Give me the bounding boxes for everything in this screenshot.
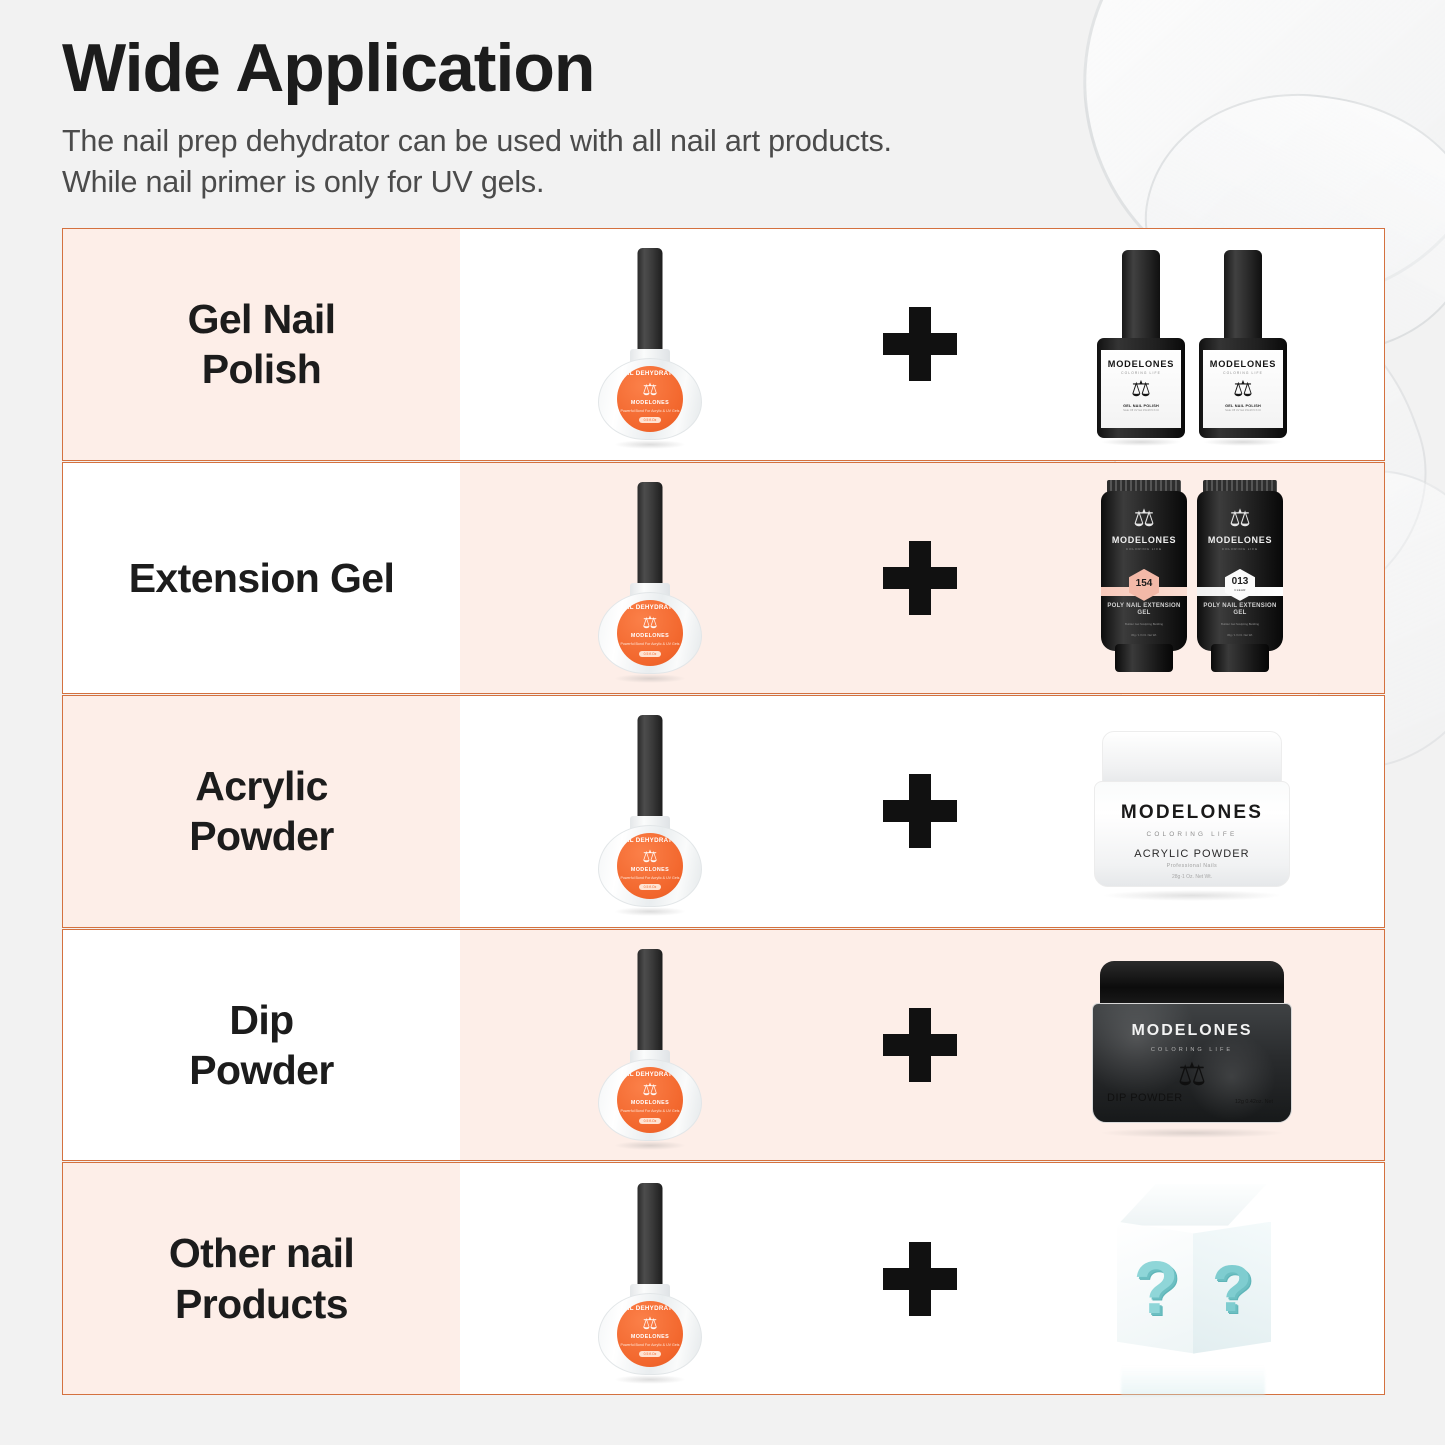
bottle-cap: [638, 715, 663, 823]
product-slot: MODELONES COLORING LIFE ⚖ DIP POWDER 12g…: [1000, 930, 1384, 1161]
page-title: Wide Application: [62, 33, 1222, 104]
product-slot: ? ?: [1000, 1163, 1384, 1394]
extension-gel-tube: ⚖ MODELONES COLORING LIFE 013 CLEAR POLY…: [1197, 480, 1283, 676]
plus-icon: [883, 541, 957, 615]
tube-cap: [1115, 644, 1173, 672]
table-row: Acrylic Powder NAIL DEHYDRATOR ⚖ MODELON…: [62, 695, 1385, 928]
dehydrator-label-text: NAIL DEHYDRATOR: [617, 1305, 683, 1312]
bee-icon: ⚖: [1233, 378, 1253, 400]
bottle-label: NAIL DEHYDRATOR ⚖ MODELONES Powerful Bon…: [617, 833, 683, 899]
dehydrator-label-text: NAIL DEHYDRATOR: [617, 837, 683, 844]
bottle-shadow: [614, 1141, 686, 1150]
table-row: Gel Nail Polish NAIL DEHYDRATOR ⚖ MODELO…: [62, 228, 1385, 461]
product-slot: ⚖ MODELONES COLORING LIFE 154 POLY NAIL …: [1000, 463, 1384, 694]
bottle-cap: [638, 482, 663, 590]
bottle-shadow: [614, 1375, 686, 1384]
bottle-label: NAIL DEHYDRATOR ⚖ MODELONES Powerful Bon…: [617, 600, 683, 666]
brand-text: MODELONES: [1131, 1022, 1252, 1040]
tube-description: POLY NAIL EXTENSION GEL Builder Gel Scul…: [1197, 603, 1283, 637]
row-label-cell: Gel Nail Polish: [63, 229, 460, 460]
brand-text: MODELONES: [631, 1100, 669, 1106]
plus-slot: [840, 307, 1000, 381]
question-mark-cube: ? ?: [1097, 1184, 1287, 1374]
bottle-shadow: [1203, 438, 1283, 446]
bottle-body: NAIL DEHYDRATOR ⚖ MODELONES Powerful Bon…: [598, 1293, 702, 1375]
bee-icon: ⚖: [642, 1081, 657, 1098]
product-desc: Builder Gel Sculpting Building: [1101, 622, 1187, 627]
nail-dehydrator-bottle: NAIL DEHYDRATOR ⚖ MODELONES Powerful Bon…: [598, 715, 702, 907]
row-label-cell: Extension Gel: [63, 463, 460, 694]
row-label-cell: Dip Powder: [63, 930, 460, 1161]
shade-badge: 013 CLEAR: [1225, 569, 1255, 601]
bottle-desc: Powerful Bond For Acrylic & UV Gels: [621, 1343, 680, 1348]
dehydrator-slot: NAIL DEHYDRATOR ⚖ MODELONES Powerful Bon…: [460, 1163, 840, 1394]
product-name: DIP POWDER: [1107, 1092, 1183, 1106]
product-net: Soak Off UV Gel 15ml/0.5 fl.Oz: [1225, 409, 1261, 412]
brand-tagline: COLORING LIFE: [1147, 831, 1238, 838]
bee-icon: ⚖: [1178, 1058, 1207, 1090]
bottle-body: NAIL DEHYDRATOR ⚖ MODELONES Powerful Bon…: [598, 825, 702, 907]
product-desc: Builder Gel Sculpting Building: [1197, 622, 1283, 627]
product-slot: MODELONES COLORING LIFE ⚖ GEL NAIL POLIS…: [1000, 229, 1384, 460]
plus-slot: [840, 774, 1000, 848]
table-row: Extension Gel NAIL DEHYDRATOR ⚖ MODELONE…: [62, 462, 1385, 695]
row-product-cell: NAIL DEHYDRATOR ⚖ MODELONES Powerful Bon…: [460, 696, 1384, 927]
bottle-shadow: [614, 440, 686, 449]
bottle-label: NAIL DEHYDRATOR ⚖ MODELONES Powerful Bon…: [617, 366, 683, 432]
tube-body: ⚖ MODELONES COLORING LIFE 154 POLY NAIL …: [1101, 491, 1187, 651]
shade-badge: 154: [1129, 569, 1159, 601]
shade-number: 013: [1232, 577, 1249, 587]
infographic-page: Wide Application The nail prep dehydrato…: [0, 0, 1445, 1445]
product-net: 30g / 1 fl.Oz. Net Wt.: [1101, 633, 1187, 637]
application-table: Gel Nail Polish NAIL DEHYDRATOR ⚖ MODELO…: [62, 228, 1385, 1395]
plus-slot: [840, 541, 1000, 615]
jar-shadow: [1099, 1128, 1285, 1138]
tube-description: POLY NAIL EXTENSION GEL Builder Gel Scul…: [1101, 603, 1187, 637]
bottle-volume: 0.5 fl.Oz: [639, 884, 662, 890]
brand-text: MODELONES: [631, 867, 669, 873]
brand-text: MODELONES: [1108, 359, 1174, 369]
product-name: GEL NAIL POLISH: [1225, 404, 1261, 408]
bottle-desc: Powerful Bond For Acrylic & UV Gels: [621, 409, 680, 414]
bottle-body: MODELONES COLORING LIFE ⚖ GEL NAIL POLIS…: [1199, 338, 1287, 438]
dehydrator-slot: NAIL DEHYDRATOR ⚖ MODELONES Powerful Bon…: [460, 463, 840, 694]
product-name: ACRYLIC POWDER: [1134, 848, 1249, 860]
acrylic-powder-jar: MODELONES COLORING LIFE ACRYLIC POWDER P…: [1094, 731, 1290, 891]
bottle-desc: Powerful Bond For Acrylic & UV Gels: [621, 876, 680, 881]
brand-text: MODELONES: [1121, 802, 1263, 824]
product-name: GEL NAIL POLISH: [1123, 404, 1159, 408]
dehydrator-slot: NAIL DEHYDRATOR ⚖ MODELONES Powerful Bon…: [460, 930, 840, 1161]
brand-text: MODELONES: [1210, 359, 1276, 369]
bottle-body: NAIL DEHYDRATOR ⚖ MODELONES Powerful Bon…: [598, 592, 702, 674]
row-label: Other nail Products: [169, 1228, 354, 1329]
bottle-label: NAIL DEHYDRATOR ⚖ MODELONES Powerful Bon…: [617, 1301, 683, 1367]
bottle-cap: [638, 248, 663, 356]
row-product-cell: NAIL DEHYDRATOR ⚖ MODELONES Powerful Bon…: [460, 930, 1384, 1161]
brand-text: MODELONES: [631, 1334, 669, 1340]
brand-tagline: COLORING LIFE: [1121, 371, 1161, 375]
row-label-cell: Acrylic Powder: [63, 696, 460, 927]
gel-polish-bottle: MODELONES COLORING LIFE ⚖ GEL NAIL POLIS…: [1097, 250, 1185, 438]
bee-icon: ⚖: [1131, 378, 1151, 400]
product-name: POLY NAIL EXTENSION GEL: [1197, 603, 1283, 618]
bottle-label: NAIL DEHYDRATOR ⚖ MODELONES Powerful Bon…: [617, 1067, 683, 1133]
bottle-body: NAIL DEHYDRATOR ⚖ MODELONES Powerful Bon…: [598, 1059, 702, 1141]
cube-reflection: [1121, 1366, 1265, 1396]
row-label-cell: Other nail Products: [63, 1163, 460, 1394]
bee-icon: ⚖: [642, 381, 657, 398]
bottle-shadow: [614, 674, 686, 683]
dehydrator-slot: NAIL DEHYDRATOR ⚖ MODELONES Powerful Bon…: [460, 229, 840, 460]
bottle-cap: [1224, 250, 1262, 344]
row-label: Acrylic Powder: [189, 761, 334, 862]
cube-top-face: [1117, 1184, 1267, 1226]
plus-icon: [883, 1242, 957, 1316]
product-sub: Professional Nails: [1167, 863, 1218, 869]
bottle-shadow: [614, 907, 686, 916]
plus-icon: [883, 774, 957, 848]
cube-right-face: ?: [1193, 1222, 1271, 1354]
nail-dehydrator-bottle: NAIL DEHYDRATOR ⚖ MODELONES Powerful Bon…: [598, 248, 702, 440]
bottle-volume: 0.5 fl.Oz: [639, 651, 662, 657]
plus-slot: [840, 1008, 1000, 1082]
bottle-body: MODELONES COLORING LIFE ⚖ GEL NAIL POLIS…: [1097, 338, 1185, 438]
row-product-cell: NAIL DEHYDRATOR ⚖ MODELONES Powerful Bon…: [460, 463, 1384, 694]
product-name: POLY NAIL EXTENSION GEL: [1101, 603, 1187, 618]
bee-icon: ⚖: [642, 848, 657, 865]
table-row: Other nail Products NAIL DEHYDRATOR ⚖ MO…: [62, 1162, 1385, 1395]
dehydrator-label-text: NAIL DEHYDRATOR: [617, 1071, 683, 1078]
gel-polish-bottles: MODELONES COLORING LIFE ⚖ GEL NAIL POLIS…: [1097, 250, 1287, 438]
dehydrator-label-text: NAIL DEHYDRATOR: [617, 604, 683, 611]
bee-icon: ⚖: [642, 614, 657, 631]
row-label: Extension Gel: [129, 553, 395, 603]
nail-dehydrator-bottle: NAIL DEHYDRATOR ⚖ MODELONES Powerful Bon…: [598, 1183, 702, 1375]
gel-polish-bottle: MODELONES COLORING LIFE ⚖ GEL NAIL POLIS…: [1199, 250, 1287, 438]
bottle-cap: [1122, 250, 1160, 344]
row-product-cell: NAIL DEHYDRATOR ⚖ MODELONES Powerful Bon…: [460, 229, 1384, 460]
product-net: 28g·1 Oz. Net Wt.: [1172, 874, 1212, 880]
bee-icon: ⚖: [642, 1315, 657, 1332]
bottle-volume: 0.5 fl.Oz: [639, 1351, 662, 1357]
nail-dehydrator-bottle: NAIL DEHYDRATOR ⚖ MODELONES Powerful Bon…: [598, 949, 702, 1141]
table-row: Dip Powder NAIL DEHYDRATOR ⚖ MODELONES P…: [62, 929, 1385, 1162]
header: Wide Application The nail prep dehydrato…: [62, 33, 1222, 203]
question-mark-icon: ?: [1212, 1255, 1252, 1321]
plus-icon: [883, 1008, 957, 1082]
bottle-desc: Powerful Bond For Acrylic & UV Gels: [621, 642, 680, 647]
extension-gel-tubes: ⚖ MODELONES COLORING LIFE 154 POLY NAIL …: [1101, 480, 1283, 676]
tube-cap: [1211, 644, 1269, 672]
bottle-volume: 0.5 fl.Oz: [639, 417, 662, 423]
brand-text: MODELONES: [631, 400, 669, 406]
row-label: Dip Powder: [189, 995, 334, 1096]
jar-lid: [1100, 961, 1284, 1009]
dehydrator-label-text: NAIL DEHYDRATOR: [617, 370, 683, 377]
product-net: 30g / 1 fl.Oz. Net Wt.: [1197, 633, 1283, 637]
bee-icon: ⚖: [1133, 507, 1155, 531]
bottle-cap: [638, 949, 663, 1057]
bottle-label: MODELONES COLORING LIFE ⚖ GEL NAIL POLIS…: [1203, 350, 1283, 428]
bottle-shadow: [1101, 438, 1181, 446]
dip-powder-jar: MODELONES COLORING LIFE ⚖ DIP POWDER 12g…: [1092, 961, 1292, 1129]
jar-body: MODELONES COLORING LIFE ACRYLIC POWDER P…: [1094, 781, 1290, 887]
tube-body: ⚖ MODELONES COLORING LIFE 013 CLEAR POLY…: [1197, 491, 1283, 651]
bottle-cap: [638, 1183, 663, 1291]
plus-slot: [840, 1242, 1000, 1316]
bee-icon: ⚖: [1229, 507, 1251, 531]
bottle-label: MODELONES COLORING LIFE ⚖ GEL NAIL POLIS…: [1101, 350, 1181, 428]
brand-tagline: COLORING LIFE: [1223, 371, 1263, 375]
brand-text: MODELONES: [1208, 535, 1272, 545]
question-mark-icon: ?: [1133, 1251, 1178, 1325]
dehydrator-slot: NAIL DEHYDRATOR ⚖ MODELONES Powerful Bon…: [460, 696, 840, 927]
extension-gel-tube: ⚖ MODELONES COLORING LIFE 154 POLY NAIL …: [1101, 480, 1187, 676]
row-product-cell: NAIL DEHYDRATOR ⚖ MODELONES Powerful Bon…: [460, 1163, 1384, 1394]
bottle-volume: 0.5 fl.Oz: [639, 1118, 662, 1124]
product-net: Soak Off UV Gel 15ml/0.5 fl.Oz: [1123, 409, 1159, 412]
product-net: 12g 0.42oz. Net: [1235, 1099, 1273, 1105]
nail-dehydrator-bottle: NAIL DEHYDRATOR ⚖ MODELONES Powerful Bon…: [598, 482, 702, 674]
brand-tagline: COLORING LIFE: [1126, 547, 1162, 551]
cube-left-face: ?: [1117, 1222, 1195, 1354]
brand-text: MODELONES: [631, 633, 669, 639]
bottle-desc: Powerful Bond For Acrylic & UV Gels: [621, 1109, 680, 1114]
page-subtitle: The nail prep dehydrator can be used wit…: [62, 121, 1222, 202]
brand-tagline: COLORING LIFE: [1151, 1047, 1233, 1053]
bottle-body: NAIL DEHYDRATOR ⚖ MODELONES Powerful Bon…: [598, 358, 702, 440]
shade-sub: CLEAR: [1234, 588, 1246, 592]
shade-number: 154: [1136, 579, 1153, 589]
brand-text: MODELONES: [1112, 535, 1176, 545]
product-slot: MODELONES COLORING LIFE ACRYLIC POWDER P…: [1000, 696, 1384, 927]
jar-body: MODELONES COLORING LIFE ⚖ DIP POWDER 12g…: [1092, 1003, 1292, 1123]
row-label: Gel Nail Polish: [188, 294, 336, 395]
jar-shadow: [1102, 890, 1282, 901]
brand-tagline: COLORING LIFE: [1222, 547, 1258, 551]
plus-icon: [883, 307, 957, 381]
